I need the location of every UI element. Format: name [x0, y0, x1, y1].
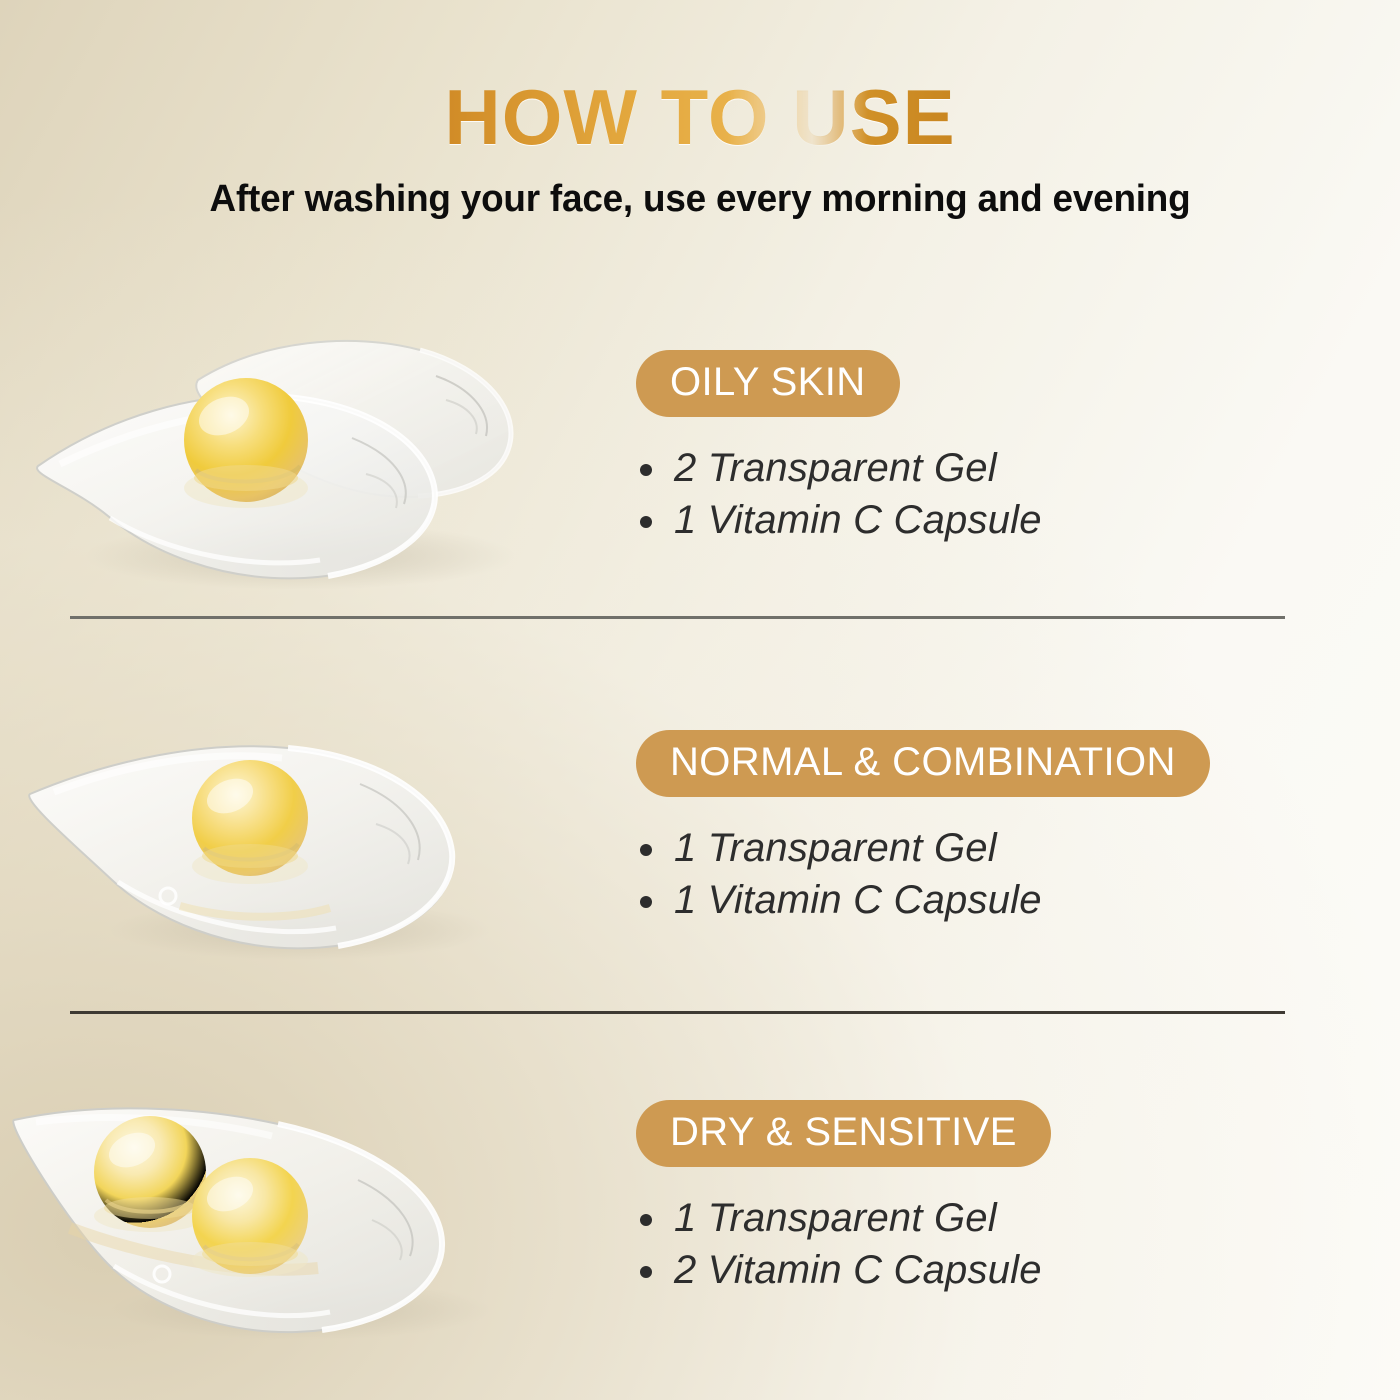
skin-type-info-oily: OILY SKIN 2 Transparent Gel 1 Vitamin C … [620, 350, 1400, 545]
list-item: 2 Transparent Gel [636, 443, 1400, 494]
usage-list-dry-sensitive: 1 Transparent Gel 2 Vitamin C Capsule [636, 1193, 1400, 1295]
skin-type-info-dry-sensitive: DRY & SENSITIVE 1 Transparent Gel 2 Vita… [620, 1100, 1400, 1295]
product-visual-one-gel-two-capsules [0, 1038, 620, 1358]
skin-type-badge-dry-sensitive: DRY & SENSITIVE [636, 1100, 1051, 1167]
poster-header: HOW TO USE After washing your face, use … [0, 0, 1400, 221]
skin-type-section-dry-sensitive: DRY & SENSITIVE 1 Transparent Gel 2 Vita… [0, 1038, 1400, 1358]
skin-type-section-oily: OILY SKIN 2 Transparent Gel 1 Vitamin C … [0, 288, 1400, 608]
list-item: 1 Transparent Gel [636, 1193, 1400, 1244]
skin-type-section-normal-combination: NORMAL & COMBINATION 1 Transparent Gel 1… [0, 668, 1400, 988]
page-subtitle: After washing your face, use every morni… [21, 156, 1379, 221]
list-item: 1 Vitamin C Capsule [636, 875, 1400, 926]
skin-type-info-normal-combination: NORMAL & COMBINATION 1 Transparent Gel 1… [620, 730, 1400, 925]
list-item: 2 Vitamin C Capsule [636, 1245, 1400, 1296]
skin-type-badge-normal-combination: NORMAL & COMBINATION [636, 730, 1210, 797]
skin-type-badge-oily: OILY SKIN [636, 350, 900, 417]
how-to-use-poster: HOW TO USE After washing your face, use … [0, 0, 1400, 1400]
usage-list-oily: 2 Transparent Gel 1 Vitamin C Capsule [636, 443, 1400, 545]
usage-list-normal-combination: 1 Transparent Gel 1 Vitamin C Capsule [636, 823, 1400, 925]
page-title: HOW TO USE [0, 0, 1400, 156]
product-visual-two-gel-one-capsule [0, 288, 620, 608]
list-item: 1 Vitamin C Capsule [636, 495, 1400, 546]
section-divider-top [70, 616, 1285, 619]
list-item: 1 Transparent Gel [636, 823, 1400, 874]
section-divider-bottom [70, 1011, 1285, 1014]
product-visual-one-gel-one-capsule [0, 668, 620, 988]
